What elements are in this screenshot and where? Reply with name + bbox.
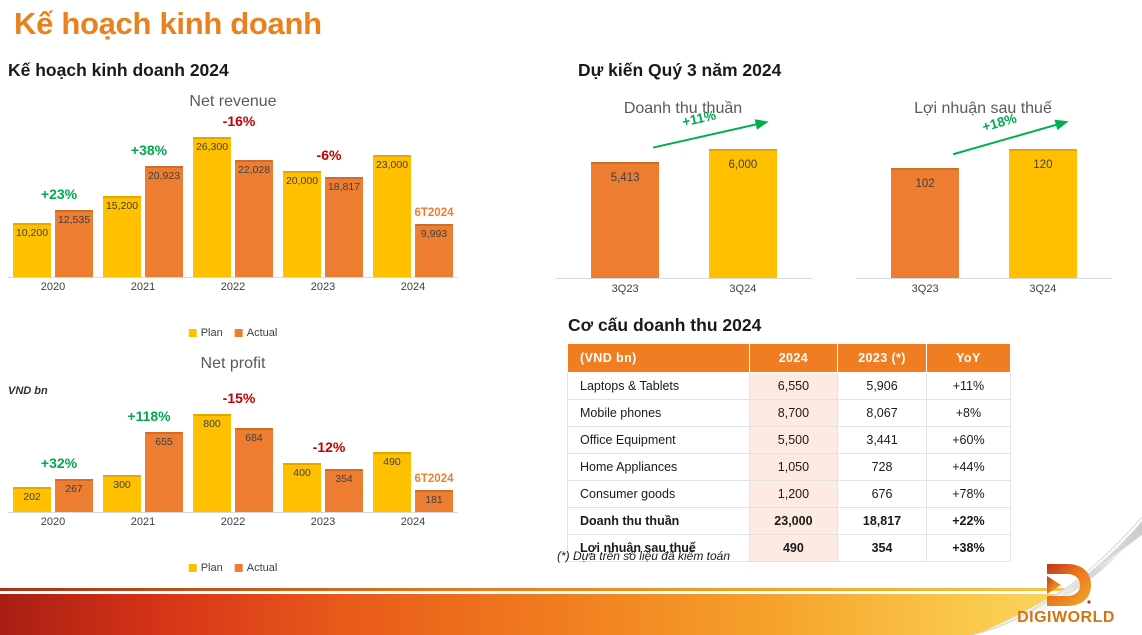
table-cell-yoy: +22% xyxy=(926,508,1010,535)
table-cell-label: Office Equipment xyxy=(568,427,750,454)
delta-label-2021: +118% xyxy=(127,408,170,424)
table-row[interactable]: Doanh thu thuần23,00018,817+22% xyxy=(568,508,1011,535)
category-label-2020: 2020 xyxy=(41,516,65,528)
table-header-yoy: YoY xyxy=(926,344,1010,373)
bar-value-label: 10,200 xyxy=(16,227,48,239)
footer-accent-line xyxy=(0,588,1142,591)
bar-value-label: 400 xyxy=(293,467,311,479)
delta-label-2023: -6% xyxy=(317,147,342,163)
chart-legend-net-profit: Plan Actual xyxy=(189,562,278,574)
category-label-2022: 2022 xyxy=(221,516,245,528)
bar-net-revenue-2020-plan[interactable]: 10,200 xyxy=(13,223,51,277)
chart-q3-profit: 1023Q231203Q24+18% xyxy=(856,130,1112,298)
table-cell-y2024: 490 xyxy=(749,535,838,562)
table-cell-y2024: 1,050 xyxy=(749,454,838,481)
bar-value-label: 490 xyxy=(383,456,401,468)
bar-net-revenue-2021-actual[interactable]: 20,923 xyxy=(145,166,183,277)
bar-value-label: 354 xyxy=(335,473,353,485)
category-label-2021: 2021 xyxy=(131,281,155,293)
bar-top-shade xyxy=(145,432,183,434)
table-cell-y2024: 1,200 xyxy=(749,481,838,508)
bar-value-label: 26,300 xyxy=(196,141,228,153)
bar-top-shade xyxy=(13,223,51,225)
growth-arrow-icon xyxy=(856,130,1112,298)
bar-net-profit-2023-plan[interactable]: 400 xyxy=(283,463,321,512)
table-cell-y2023: 3,441 xyxy=(838,427,927,454)
table-cell-y2024: 6,550 xyxy=(749,373,838,400)
delta-label-2021: +38% xyxy=(131,142,167,158)
bar-value-label: 181 xyxy=(425,494,443,506)
category-label-2024: 2024 xyxy=(401,516,425,528)
table-cell-y2023: 8,067 xyxy=(838,400,927,427)
bar-top-shade xyxy=(325,177,363,179)
growth-arrow-icon xyxy=(556,130,812,298)
legend-label-plan: Plan xyxy=(201,327,223,339)
table-cell-label: Doanh thu thuần xyxy=(568,508,750,535)
chart-title-net-profit: Net profit xyxy=(8,355,458,373)
delta-label-2023: -12% xyxy=(313,439,346,455)
table-body: Laptops & Tablets6,5505,906+11%Mobile ph… xyxy=(568,373,1011,562)
bar-value-label: 20,923 xyxy=(148,170,180,182)
table-cell-y2024: 8,700 xyxy=(749,400,838,427)
bar-value-label: 15,200 xyxy=(106,200,138,212)
bar-top-shade xyxy=(235,428,273,430)
legend-item-actual-2: Actual xyxy=(235,562,278,574)
bar-top-shade xyxy=(193,414,231,416)
bar-net-profit-2021-plan[interactable]: 300 xyxy=(103,475,141,512)
bar-value-label: 202 xyxy=(23,491,41,503)
bar-value-label: 12,535 xyxy=(58,214,90,226)
table-row[interactable]: Consumer goods1,200676+78% xyxy=(568,481,1011,508)
legend-label-plan-2: Plan xyxy=(201,562,223,574)
table-row[interactable]: Office Equipment5,5003,441+60% xyxy=(568,427,1011,454)
bar-value-label: 684 xyxy=(245,432,263,444)
section-title-q3-forecast: Dự kiến Quý 3 năm 2024 xyxy=(578,60,781,81)
bar-top-shade xyxy=(145,166,183,168)
bar-top-shade xyxy=(55,479,93,481)
chart-title-net-revenue: Net revenue xyxy=(8,93,458,111)
category-label-2024: 2024 xyxy=(401,281,425,293)
chart-axis-line xyxy=(8,277,458,278)
chart-q3-revenue: 5,4133Q236,0003Q24+11% xyxy=(556,130,812,298)
table-cell-yoy: +44% xyxy=(926,454,1010,481)
category-label-2020: 2020 xyxy=(41,281,65,293)
bar-net-revenue-2024-plan[interactable]: 23,000 xyxy=(373,155,411,277)
bar-net-revenue-2022-actual[interactable]: 22,028 xyxy=(235,160,273,277)
legend-label-actual: Actual xyxy=(247,327,278,339)
table-cell-y2023: 5,906 xyxy=(838,373,927,400)
legend-swatch-actual-icon-2 xyxy=(235,564,243,572)
table-footnote: (*) Dựa trên số liệu đã kiểm toán xyxy=(557,549,730,563)
legend-label-actual-2: Actual xyxy=(247,562,278,574)
table-cell-y2023: 728 xyxy=(838,454,927,481)
bar-top-shade xyxy=(283,463,321,465)
delta-label-2020: +23% xyxy=(41,186,77,202)
bar-net-profit-2022-actual[interactable]: 684 xyxy=(235,428,273,512)
section-title-business-plan: Kế hoạch kinh doanh 2024 xyxy=(8,60,229,81)
bar-top-shade xyxy=(325,469,363,471)
table-cell-yoy: +8% xyxy=(926,400,1010,427)
table-cell-yoy: +11% xyxy=(926,373,1010,400)
table-row[interactable]: Home Appliances1,050728+44% xyxy=(568,454,1011,481)
legend-item-plan-2: Plan xyxy=(189,562,223,574)
table-cell-y2023: 18,817 xyxy=(838,508,927,535)
bar-top-shade xyxy=(283,171,321,173)
bar-net-revenue-2022-plan[interactable]: 26,300 xyxy=(193,137,231,277)
bar-net-revenue-2023-plan[interactable]: 20,000 xyxy=(283,171,321,277)
bar-net-revenue-2024-actual[interactable]: 9,993 xyxy=(415,224,453,277)
table-row[interactable]: Mobile phones8,7008,067+8% xyxy=(568,400,1011,427)
table-cell-label: Consumer goods xyxy=(568,481,750,508)
legend-item-plan: Plan xyxy=(189,327,223,339)
table-cell-y2023: 676 xyxy=(838,481,927,508)
category-label-2023: 2023 xyxy=(311,281,335,293)
annotation-6t2024: 6T2024 xyxy=(414,473,453,485)
legend-swatch-actual-icon xyxy=(235,329,243,337)
page-title: Kế hoạch kinh doanh xyxy=(14,6,322,42)
chart-title-q3-profit: Lợi nhuận sau thuế xyxy=(852,100,1114,118)
bar-value-label: 267 xyxy=(65,483,83,495)
annotation-6t2024: 6T2024 xyxy=(414,207,453,219)
legend-item-actual: Actual xyxy=(235,327,278,339)
bar-top-shade xyxy=(415,224,453,226)
table-cell-yoy: +78% xyxy=(926,481,1010,508)
bar-net-profit-2020-plan[interactable]: 202 xyxy=(13,487,51,512)
chart-axis-line xyxy=(8,512,458,513)
bar-net-profit-2024-actual[interactable]: 181 xyxy=(415,490,453,512)
footer-gradient-bar xyxy=(0,594,1142,635)
bar-value-label: 9,993 xyxy=(421,228,447,240)
table-cell-label: Mobile phones xyxy=(568,400,750,427)
table-cell-y2023: 354 xyxy=(838,535,927,562)
bar-net-revenue-2023-actual[interactable]: 18,817 xyxy=(325,177,363,277)
table-header-y2024: 2024 xyxy=(749,344,838,373)
bar-net-profit-2022-plan[interactable]: 800 xyxy=(193,414,231,512)
bar-top-shade xyxy=(103,475,141,477)
table-cell-yoy: +60% xyxy=(926,427,1010,454)
table-cell-label: Laptops & Tablets xyxy=(568,373,750,400)
table-cell-label: Home Appliances xyxy=(568,454,750,481)
bar-value-label: 300 xyxy=(113,479,131,491)
bar-net-profit-2023-actual[interactable]: 354 xyxy=(325,469,363,512)
bar-top-shade xyxy=(55,210,93,212)
category-label-2023: 2023 xyxy=(311,516,335,528)
bar-top-shade xyxy=(373,452,411,454)
legend-swatch-plan-icon-2 xyxy=(189,564,197,572)
bar-value-label: 655 xyxy=(155,436,173,448)
brand-logo: DIGIWORLD xyxy=(1006,562,1126,627)
bar-net-revenue-2020-actual[interactable]: 12,535 xyxy=(55,210,93,277)
chart-net-profit: 2022672020+32%3006552021+118%8006842022-… xyxy=(8,400,458,530)
table-header-label: (VND bn) xyxy=(568,344,750,373)
table-cell-y2024: 5,500 xyxy=(749,427,838,454)
table-cell-y2024: 23,000 xyxy=(749,508,838,535)
bar-top-shade xyxy=(235,160,273,162)
bar-top-shade xyxy=(415,490,453,492)
bar-value-label: 18,817 xyxy=(328,181,360,193)
bar-top-shade xyxy=(13,487,51,489)
bar-net-profit-2024-plan[interactable]: 490 xyxy=(373,452,411,512)
bar-value-label: 800 xyxy=(203,418,221,430)
bar-top-shade xyxy=(103,196,141,198)
delta-label-2022: -16% xyxy=(223,113,256,129)
category-label-2021: 2021 xyxy=(131,516,155,528)
bar-top-shade xyxy=(193,137,231,139)
bar-net-revenue-2021-plan[interactable]: 15,200 xyxy=(103,196,141,277)
table-header-row: (VND bn)20242023 (*)YoY xyxy=(568,344,1011,373)
bar-top-shade xyxy=(373,155,411,157)
delta-label-2020: +32% xyxy=(41,455,77,471)
bar-value-label: 20,000 xyxy=(286,175,318,187)
delta-label-2022: -15% xyxy=(223,390,256,406)
legend-swatch-plan-icon xyxy=(189,329,197,337)
table-row[interactable]: Laptops & Tablets6,5505,906+11% xyxy=(568,373,1011,400)
logo-wordmark: DIGIWORLD xyxy=(1006,609,1126,627)
section-title-revenue-structure: Cơ cấu doanh thu 2024 xyxy=(568,315,761,336)
table-header-y2023: 2023 (*) xyxy=(838,344,927,373)
bar-value-label: 23,000 xyxy=(376,159,408,171)
digiworld-mark-icon xyxy=(1039,562,1093,608)
bar-value-label: 22,028 xyxy=(238,164,270,176)
bar-net-profit-2020-actual[interactable]: 267 xyxy=(55,479,93,512)
table-cell-yoy: +38% xyxy=(926,535,1010,562)
slide-root: Kế hoạch kinh doanh Kế hoạch kinh doanh … xyxy=(0,0,1142,635)
chart-legend-net-revenue: Plan Actual xyxy=(189,327,278,339)
revenue-structure-table: (VND bn)20242023 (*)YoY Laptops & Tablet… xyxy=(567,343,1011,562)
chart-net-revenue: 10,20012,5352020+23%15,20020,9232021+38%… xyxy=(8,120,458,295)
axis-unit-label: VND bn xyxy=(8,385,48,397)
bar-net-profit-2021-actual[interactable]: 655 xyxy=(145,432,183,512)
category-label-2022: 2022 xyxy=(221,281,245,293)
